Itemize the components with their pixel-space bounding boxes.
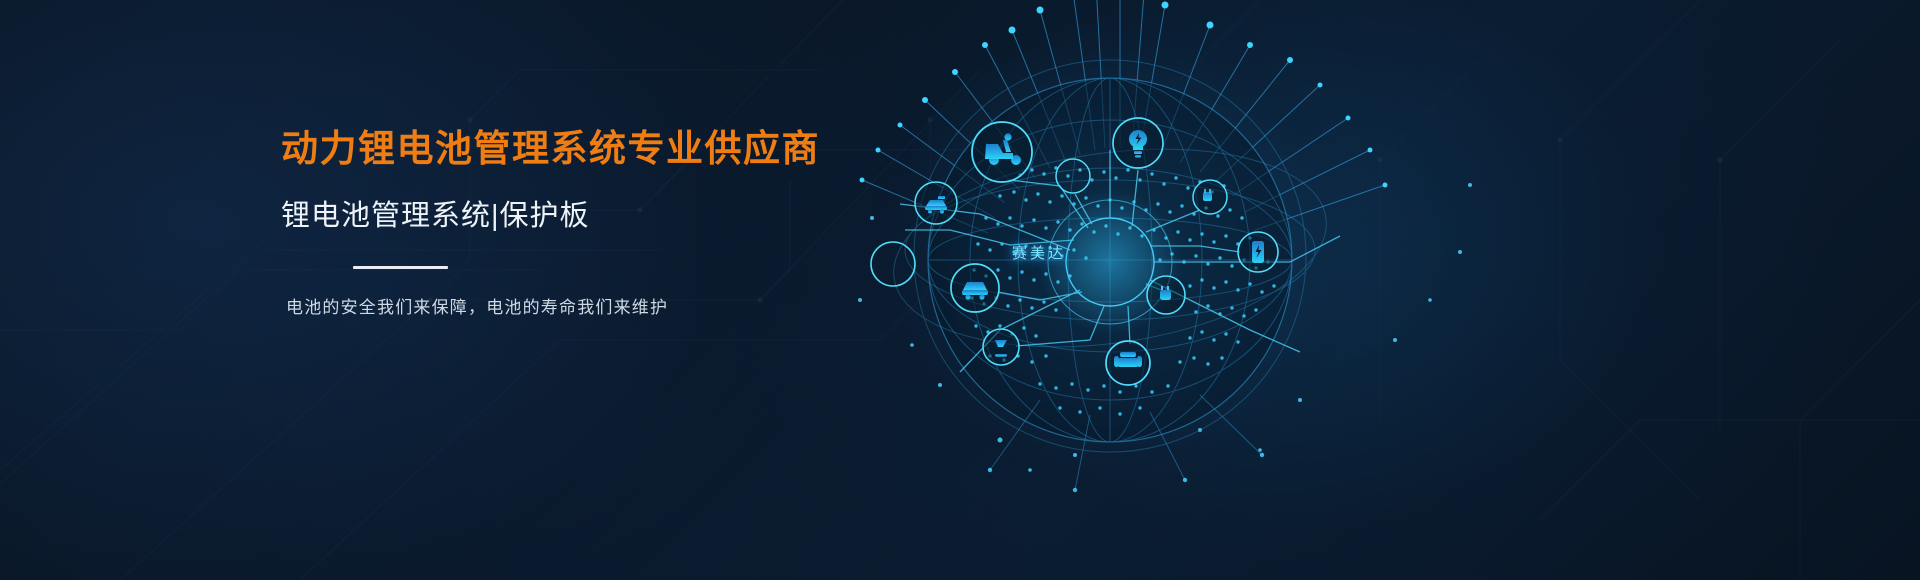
hub-label: 赛美达 — [1012, 242, 1066, 263]
power-plug-icon — [1147, 276, 1185, 314]
hero-copy: 动力锂电池管理系统专业供应商 锂电池管理系统|保护板 电池的安全我们来保障，电池… — [281, 126, 901, 318]
phone-battery-icon — [1238, 232, 1278, 272]
sofa-icon — [1106, 341, 1150, 385]
network-globe-graphic — [830, 0, 1530, 580]
page-subtitle: 锂电池管理系统|保护板 — [281, 198, 901, 236]
hero-banner: 赛美达 动力锂电池管理系统专业供应商 锂电池管理系统|保护板 电池的安全我们来保… — [0, 0, 1920, 580]
tagline-text: 电池的安全我们来保障，电池的寿命我们来维护 — [286, 293, 901, 318]
page-title: 动力锂电池管理系统专业供应商 — [281, 126, 901, 172]
car-icon — [951, 264, 999, 312]
lightbulb-icon — [1113, 118, 1163, 168]
electric-car-icon — [915, 182, 957, 224]
charging-plug-icon — [1193, 180, 1227, 214]
scooter-icon — [972, 122, 1032, 182]
title-divider — [353, 266, 448, 269]
desk-lamp-icon — [983, 329, 1019, 365]
